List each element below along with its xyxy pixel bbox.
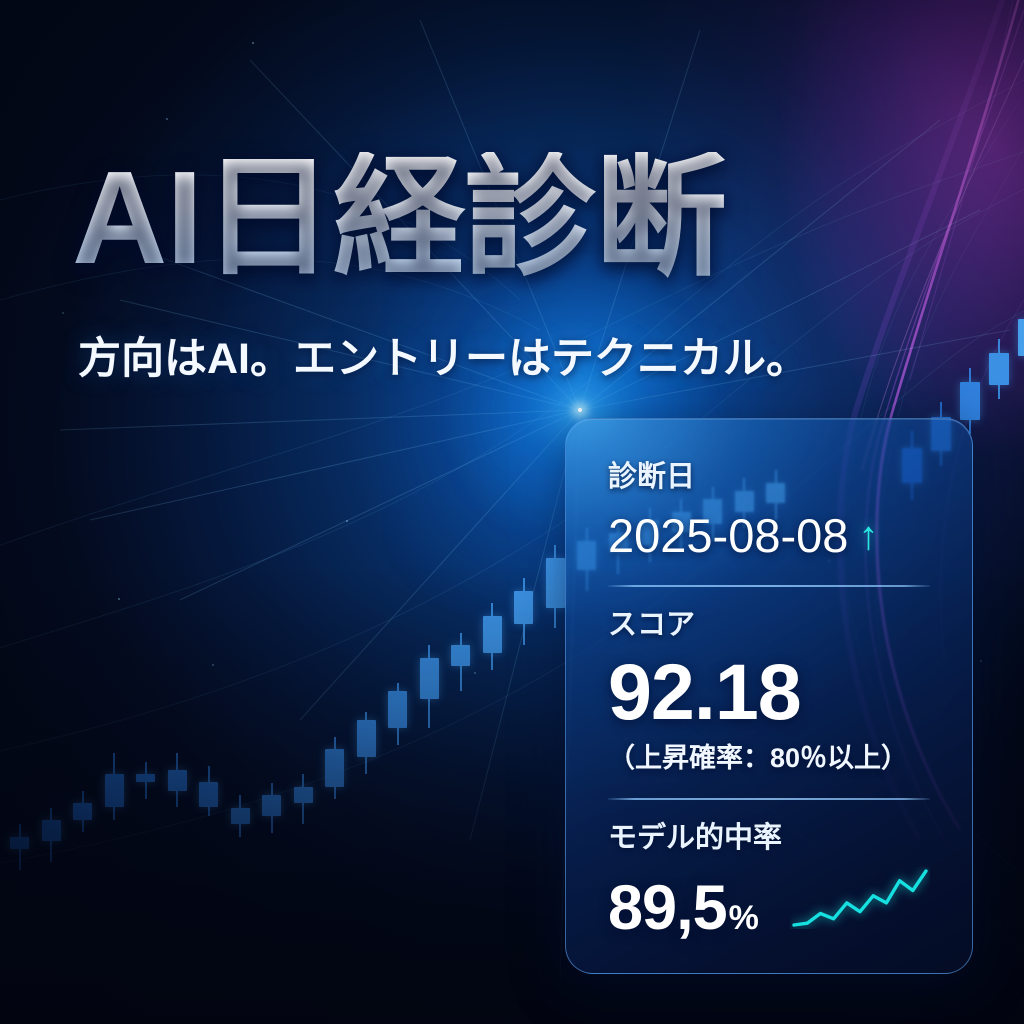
- accuracy-value-row: 89,5%: [608, 867, 930, 940]
- trend-up-arrow-icon: ↑: [858, 516, 878, 556]
- date-value-row: 2025-08-08 ↑: [608, 512, 930, 559]
- page-subtitle: 方向はAI。エントリーはテクニカル。: [78, 338, 809, 381]
- score-note: （上昇確率：80％以上）: [608, 745, 930, 772]
- divider-2: [608, 798, 930, 800]
- accuracy-value: 89,5: [608, 873, 727, 943]
- score-value: 92.18: [608, 652, 930, 733]
- score-label: スコア: [608, 611, 930, 640]
- accuracy-sparkline-icon: [790, 867, 930, 934]
- poster-canvas: AI日経診断 方向はAI。エントリーはテクニカル。 診断日 2025-08-08…: [0, 0, 1024, 1024]
- date-value: 2025-08-08: [608, 512, 848, 559]
- accuracy-unit: %: [729, 899, 759, 937]
- score-block: スコア 92.18 （上昇確率：80％以上）: [608, 611, 930, 772]
- center-glow: [578, 408, 582, 412]
- accuracy-label: モデル的中率: [608, 824, 930, 853]
- date-block: 診断日 2025-08-08 ↑: [608, 463, 930, 559]
- page-title: AI日経診断: [72, 152, 726, 284]
- diagnosis-card: 診断日 2025-08-08 ↑ スコア 92.18 （上昇確率：80％以上） …: [565, 418, 973, 974]
- accuracy-number-group: 89,5%: [608, 877, 759, 940]
- divider-1: [608, 585, 930, 587]
- accuracy-block: モデル的中率 89,5%: [608, 824, 930, 940]
- date-label: 診断日: [608, 463, 930, 492]
